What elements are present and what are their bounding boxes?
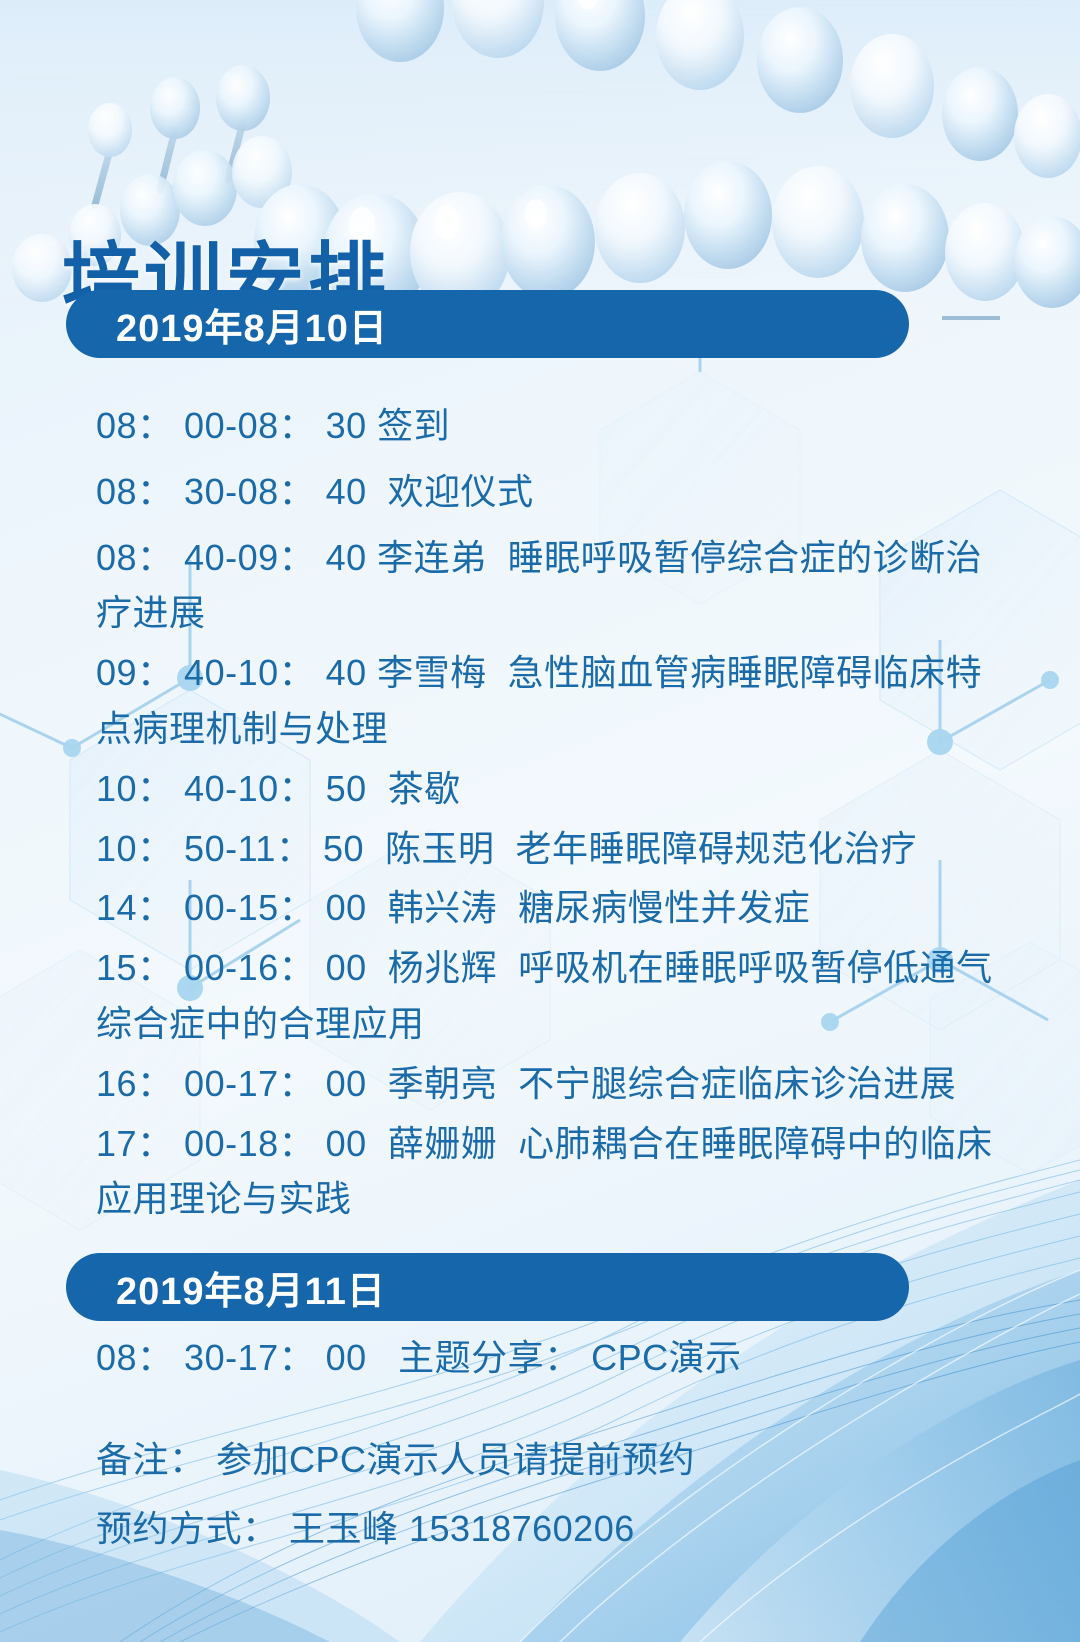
schedule-list-day2: 08： 30-17： 00 主题分享： CPC演示	[96, 1330, 1016, 1396]
schedule-item: 08： 30-17： 00 主题分享： CPC演示	[96, 1330, 1016, 1386]
training-schedule-poster: 培训安排 2019年8月10日 08： 00-08： 30 签到 08： 30-…	[0, 0, 1080, 1642]
schedule-item: 10： 40-10： 50 茶歇	[96, 761, 1016, 817]
schedule-list-day1: 08： 00-08： 30 签到 08： 30-08： 40 欢迎仪式 08： …	[96, 398, 1016, 1231]
schedule-item: 10： 50-11： 50 陈玉明 老年睡眠障碍规范化治疗	[96, 821, 1016, 877]
schedule-item: 08： 40-09： 40 李连弟 睡眠呼吸暂停综合症的诊断治疗进展	[96, 530, 1016, 642]
note-remark: 备注： 参加CPC演示人员请提前预约	[96, 1430, 1016, 1489]
schedule-item: 08： 30-08： 40 欢迎仪式	[96, 464, 1016, 520]
schedule-item: 17： 00-18： 00 薛姗姗 心肺耦合在睡眠障碍中的临床应用理论与实践	[96, 1116, 1016, 1228]
date-banner-day2-label: 2019年8月11日	[66, 1260, 386, 1315]
schedule-item: 08： 00-08： 30 签到	[96, 398, 1016, 454]
date-banner-day1-label: 2019年8月10日	[66, 297, 388, 352]
date-banner-day2: 2019年8月11日	[66, 1253, 909, 1321]
date-banner-day1: 2019年8月10日	[66, 290, 909, 358]
schedule-item: 15： 00-16： 00 杨兆辉 呼吸机在睡眠呼吸暂停低通气综合症中的合理应用	[96, 940, 1016, 1052]
note-contact: 预约方式： 王玉峰 15318760206	[96, 1499, 1016, 1558]
schedule-item: 14： 00-15： 00 韩兴涛 糖尿病慢性并发症	[96, 880, 1016, 936]
schedule-item: 09： 40-10： 40 李雪梅 急性脑血管病睡眠障碍临床特点病理机制与处理	[96, 645, 1016, 757]
notes-block: 备注： 参加CPC演示人员请提前预约 预约方式： 王玉峰 15318760206	[96, 1430, 1016, 1569]
schedule-item: 16： 00-17： 00 季朝亮 不宁腿综合症临床诊治进展	[96, 1056, 1016, 1112]
